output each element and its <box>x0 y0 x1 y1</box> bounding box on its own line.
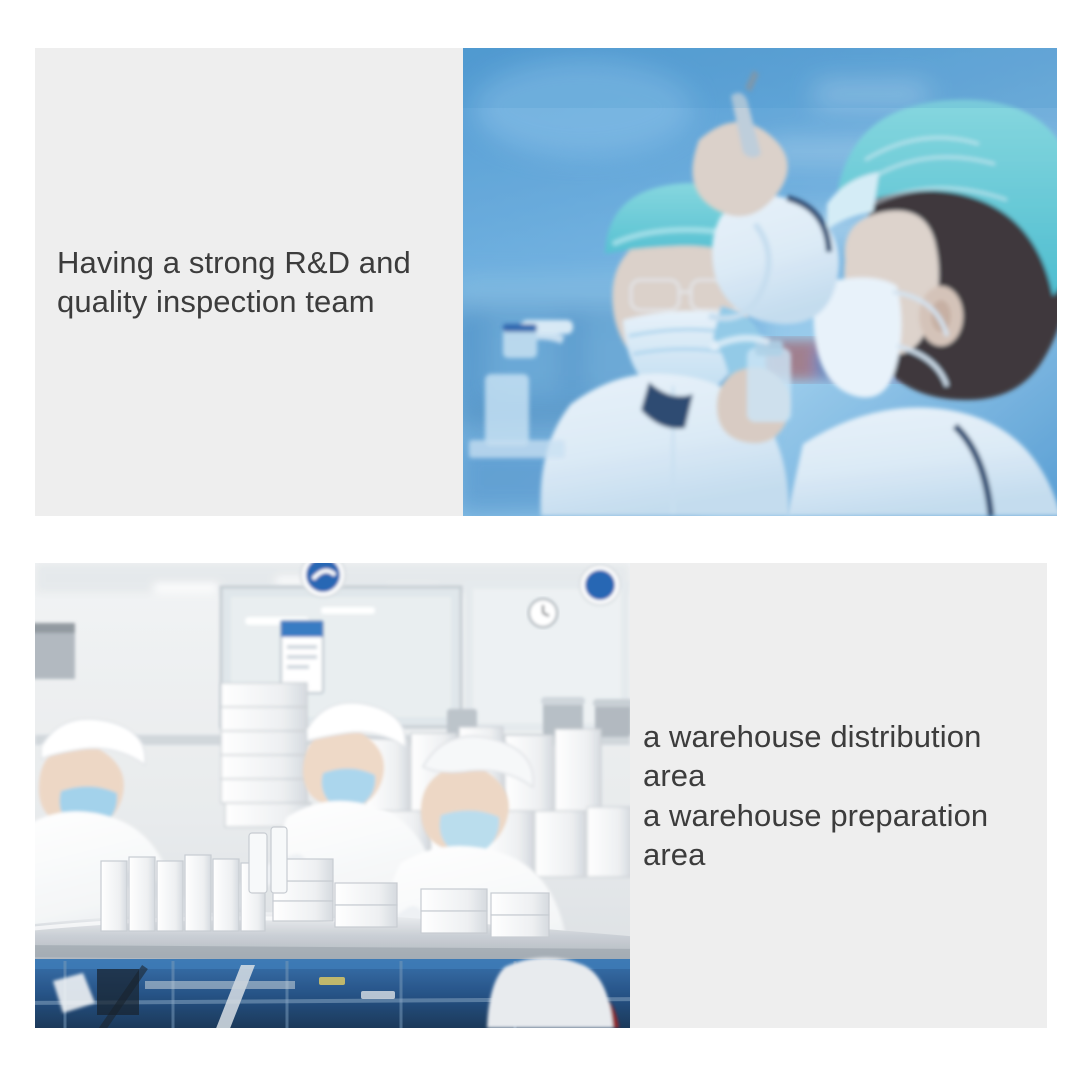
rnd-caption-text: Having a strong R&D and quality inspecti… <box>57 243 411 321</box>
lab-technicians-photo <box>463 48 1057 516</box>
warehouse-caption-text: a warehouse distribution area a warehous… <box>643 717 1039 873</box>
warehouse-packing-photo-art <box>35 563 630 1028</box>
rnd-caption-panel: Having a strong R&D and quality inspecti… <box>35 48 467 516</box>
section-rnd: Having a strong R&D and quality inspecti… <box>35 48 1057 516</box>
lab-technicians-photo-art <box>463 48 1057 516</box>
warehouse-caption-panel: a warehouse distribution area a warehous… <box>630 563 1047 1028</box>
warehouse-packing-photo <box>35 563 630 1028</box>
section-warehouse: a warehouse distribution area a warehous… <box>35 563 1047 1028</box>
